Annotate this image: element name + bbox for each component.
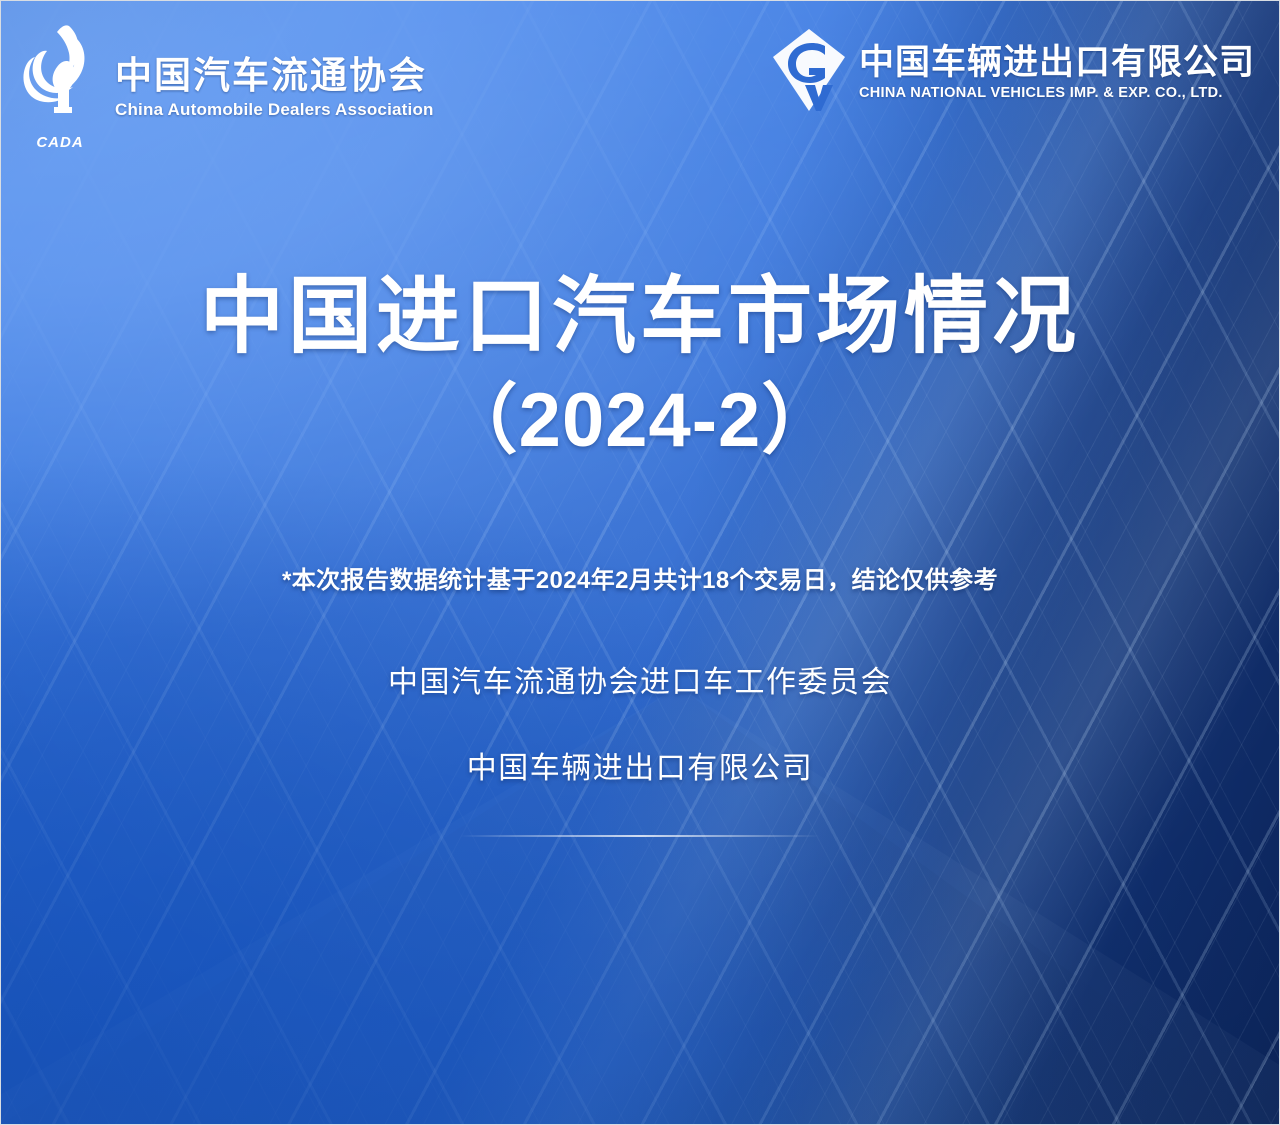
title-period: （2024-2） — [1, 377, 1279, 464]
cada-flame-logo-icon: CADA — [17, 23, 103, 151]
logo-cada: CADA 中国汽车流通协会 China Automobile Dealers A… — [17, 23, 434, 151]
cnv-name-en: CHINA NATIONAL VEHICLES IMP. & EXP. CO.,… — [859, 86, 1255, 101]
cada-wordmark: CADA — [17, 134, 103, 151]
presentation-slide: CADA 中国汽车流通协会 China Automobile Dealers A… — [0, 0, 1280, 1125]
divider — [460, 835, 820, 837]
cnv-monogram-logo-icon — [771, 27, 847, 118]
page-title: 中国进口汽车市场情况 — [1, 269, 1279, 363]
logo-cnv: 中国车辆进出口有限公司 CHINA NATIONAL VEHICLES IMP.… — [771, 27, 1255, 118]
cada-name-en: China Automobile Dealers Association — [115, 101, 434, 118]
organization-line-2: 中国车辆进出口有限公司 — [1, 743, 1279, 787]
data-source-note: *本次报告数据统计基于2024年2月共计18个交易日，结论仅供参考 — [1, 560, 1279, 595]
cada-logo-text: 中国汽车流通协会 China Automobile Dealers Associ… — [115, 57, 434, 118]
cnv-logo-text: 中国车辆进出口有限公司 CHINA NATIONAL VEHICLES IMP.… — [859, 45, 1255, 101]
cnv-name-cn: 中国车辆进出口有限公司 — [859, 45, 1255, 80]
organization-line-1: 中国汽车流通协会进口车工作委员会 — [1, 657, 1279, 701]
slide-content: 中国进口汽车市场情况 （2024-2） *本次报告数据统计基于2024年2月共计… — [1, 269, 1279, 837]
cada-name-cn: 中国汽车流通协会 — [115, 57, 434, 94]
